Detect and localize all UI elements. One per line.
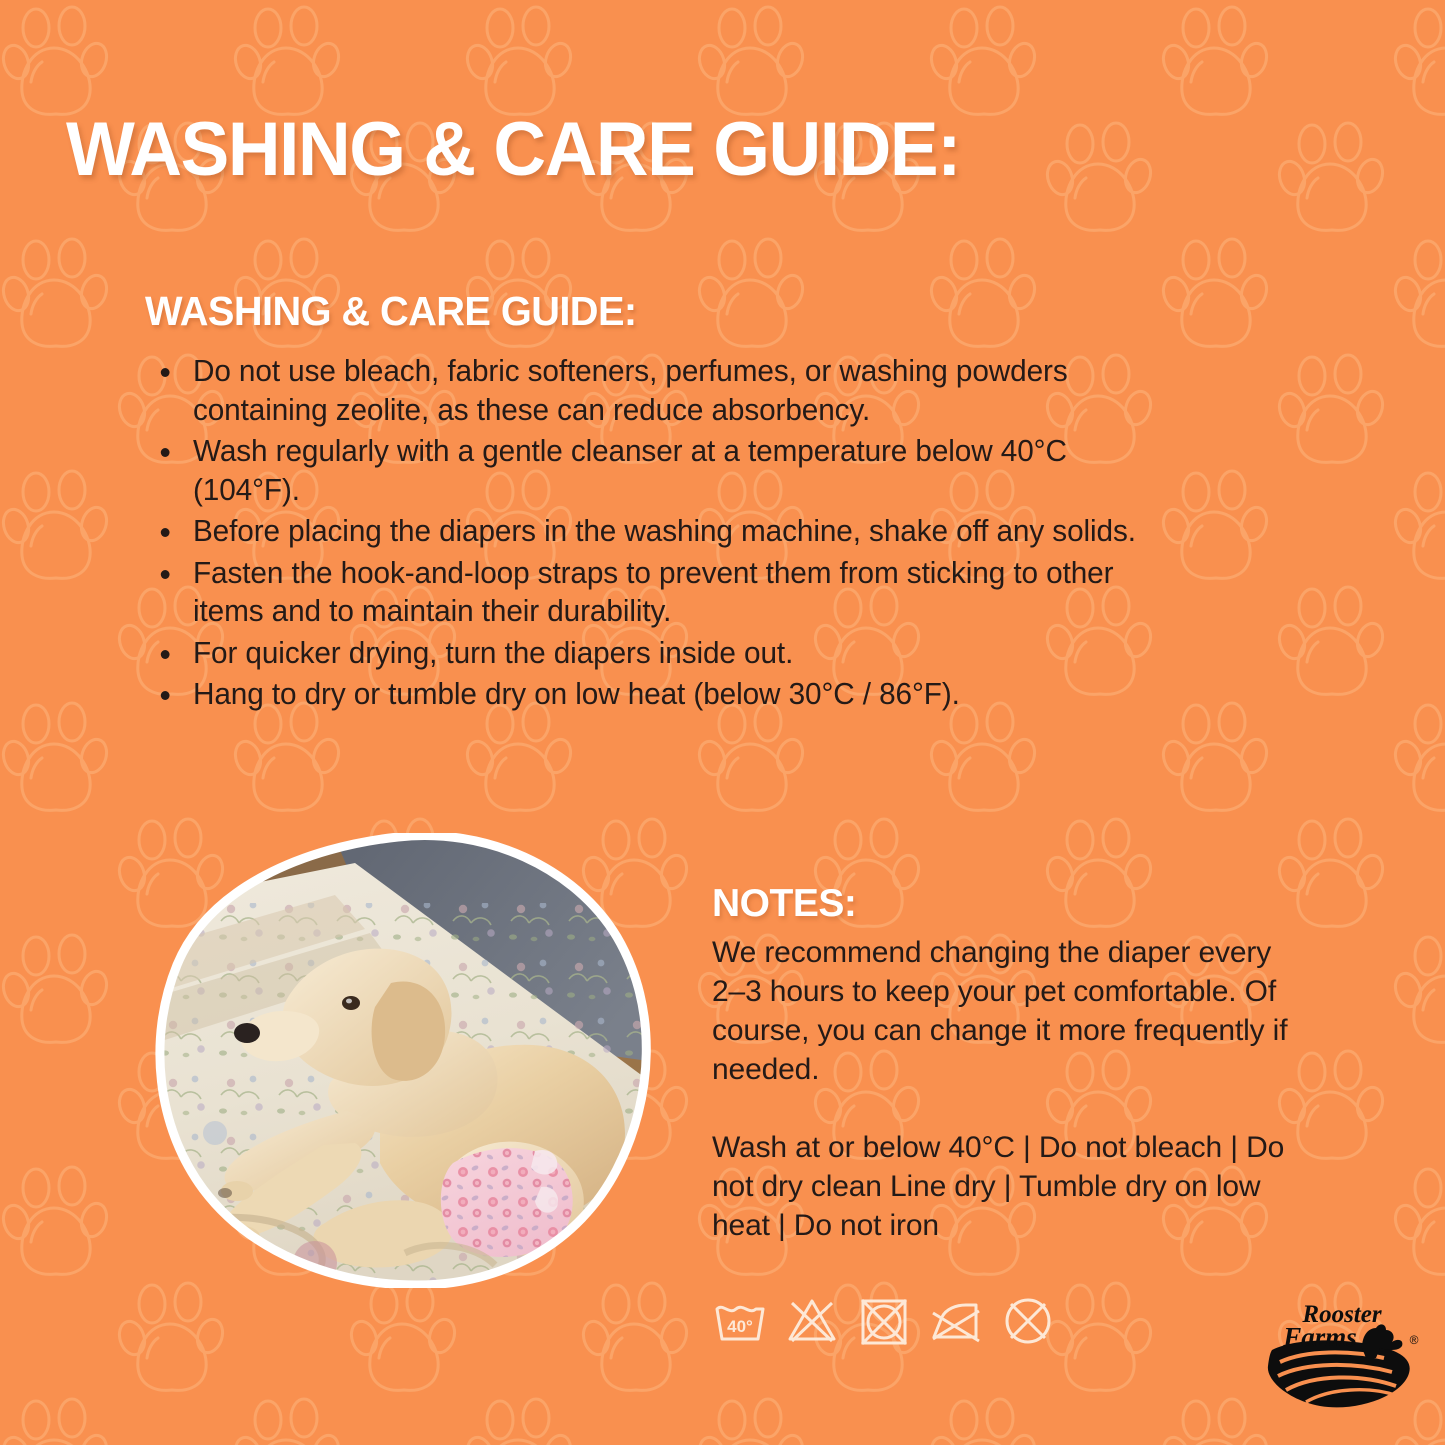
rooster-farms-logo: Rooster Farms ® [1258,1288,1426,1413]
list-item-text: Do not use bleach, fabric softeners, per… [193,354,1068,427]
trademark-icon: ® [1410,1333,1419,1347]
bullet-dot-icon [161,570,170,579]
logo-line-2: Farms [1282,1322,1357,1352]
care-summary-text: Wash at or below 40°C | Do not bleach | … [712,1128,1292,1245]
list-item: Do not use bleach, fabric softeners, per… [152,352,1137,429]
bullet-dot-icon [161,528,170,537]
do-not-iron-icon [928,1293,984,1349]
care-instructions-list: Do not use bleach, fabric softeners, per… [152,352,1162,717]
list-item: Before placing the diapers in the washin… [152,512,1137,551]
section-heading: WASHING & CARE GUIDE: [145,288,637,335]
list-item: Wash regularly with a gentle cleanser at… [152,432,1137,509]
notes-heading: NOTES: [712,882,856,926]
page-title: WASHING & CARE GUIDE: [66,112,1314,188]
wash-tub-40-icon: 40° [712,1293,768,1349]
bullet-dot-icon [161,368,170,377]
wash-temperature-label: 40° [727,1317,753,1336]
washing-care-guide-poster: WASHING & CARE GUIDE: WASHING & CARE GUI… [0,0,1445,1445]
list-item-text: Wash regularly with a gentle cleanser at… [193,434,1067,507]
list-item-text: For quicker drying, turn the diapers ins… [193,636,793,670]
dog-photo [155,833,652,1288]
list-item-text: Hang to dry or tumble dry on low heat (b… [193,677,960,711]
list-item: For quicker drying, turn the diapers ins… [152,634,1137,673]
list-item-text: Before placing the diapers in the washin… [193,514,1136,548]
do-not-tumble-dry-icon [856,1293,912,1349]
bullet-dot-icon [161,448,170,457]
list-item-text: Fasten the hook-and-loop straps to preve… [193,556,1113,629]
list-item: Fasten the hook-and-loop straps to preve… [152,554,1137,631]
do-not-dry-clean-icon [1000,1293,1056,1349]
laundry-symbols-row: 40° [712,1293,1056,1349]
notes-body-text: We recommend changing the diaper every 2… [712,933,1292,1089]
bullet-dot-icon [161,650,170,659]
list-item: Hang to dry or tumble dry on low heat (b… [152,675,1137,714]
do-not-bleach-icon [784,1293,840,1349]
bullet-dot-icon [161,691,170,700]
